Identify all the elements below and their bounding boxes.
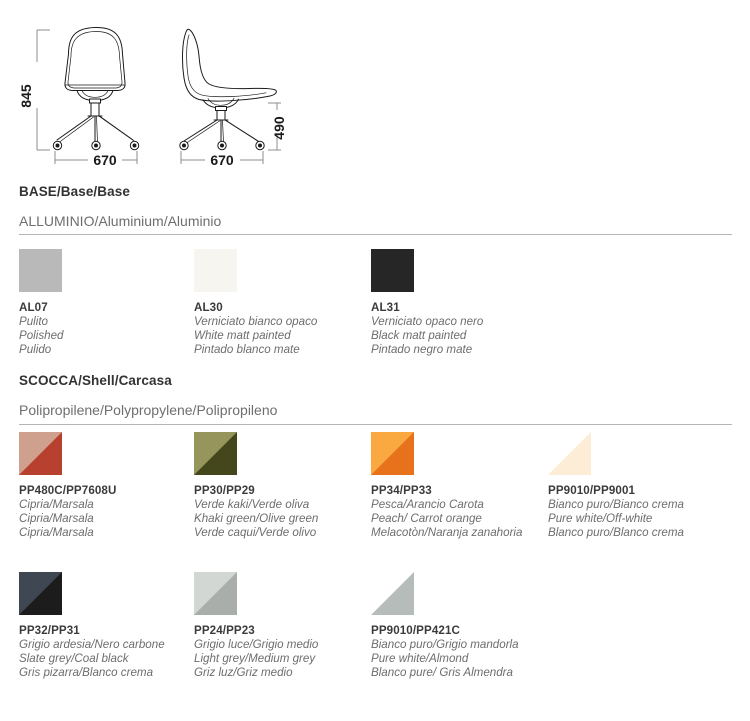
color-swatch-pp24-pp23 [194, 572, 237, 615]
swatch-description-it: Verniciato bianco opaco [194, 315, 374, 329]
swatch-description-es: Pintado negro mate [371, 343, 551, 357]
swatch-description-en: Khaki green/Olive green [194, 512, 374, 526]
swatch-description-it: Grigio luce/Grigio medio [194, 638, 374, 652]
color-swatch-pp30-pp29 [194, 432, 237, 475]
swatch-description: Bianco puro/Grigio mandorla Pure white/A… [371, 638, 551, 681]
section-shell-divider [19, 424, 732, 425]
swatch-description-en: Pure white/Almond [371, 652, 551, 666]
swatch-description-es: Pulido [19, 343, 199, 357]
color-swatch-pp9010-pp9001 [548, 432, 591, 475]
color-swatch-pp480c-pp7608u [19, 432, 62, 475]
swatch-fill-secondary [371, 249, 414, 292]
color-swatch-pp32-pp31 [19, 572, 62, 615]
swatch-item-pp32-pp31[interactable]: PP32/PP31 Grigio ardesia/Nero carbone Sl… [19, 572, 199, 681]
swatch-description-es: Blanco pure/ Gris Almendra [371, 666, 551, 680]
swatch-description-es: Melacotòn/Naranja zanahoria [371, 526, 551, 540]
dimension-label-seat-height: 490 [271, 116, 287, 140]
swatch-description-it: Verniciato opaco nero [371, 315, 551, 329]
swatch-code: PP32/PP31 [19, 624, 199, 638]
swatch-description-es: Verde caqui/Verde olivo [194, 526, 374, 540]
color-swatch-al30 [194, 249, 237, 292]
swatch-item-pp30-pp29[interactable]: PP30/PP29 Verde kaki/Verde oliva Khaki g… [194, 432, 374, 541]
swatch-description-en: Polished [19, 329, 199, 343]
swatch-description-es: Blanco puro/Blanco crema [548, 526, 748, 540]
swatch-item-pp24-pp23[interactable]: PP24/PP23 Grigio luce/Grigio medio Light… [194, 572, 374, 681]
section-base-subtitle: ALLUMINIO/Aluminium/Aluminio [19, 213, 221, 229]
swatch-description-en: Light grey/Medium grey [194, 652, 374, 666]
swatch-code: PP9010/PP421C [371, 624, 551, 638]
swatch-description-es: Pintado blanco mate [194, 343, 374, 357]
swatch-description-it: Bianco puro/Bianco crema [548, 498, 748, 512]
swatch-item-pp34-pp33[interactable]: PP34/PP33 Pesca/Arancio Carota Peach/ Ca… [371, 432, 551, 541]
swatch-code: AL07 [19, 301, 199, 315]
swatch-description-it: Verde kaki/Verde oliva [194, 498, 374, 512]
swatch-description: Verniciato opaco nero Black matt painted… [371, 315, 551, 358]
swatch-description: Grigio luce/Grigio medio Light grey/Medi… [194, 638, 374, 681]
swatch-description-it: Grigio ardesia/Nero carbone [19, 638, 199, 652]
color-swatch-al31 [371, 249, 414, 292]
dimension-label-width-right: 670 [210, 152, 234, 168]
swatch-description-it: Cipria/Marsala [19, 498, 199, 512]
swatch-description-en: White matt painted [194, 329, 374, 343]
color-swatch-pp9010-pp421c [371, 572, 414, 615]
swatch-description-it: Pesca/Arancio Carota [371, 498, 551, 512]
swatch-code: PP24/PP23 [194, 624, 374, 638]
dimension-label-width-left: 670 [93, 152, 117, 168]
dimension-label-height: 845 [18, 84, 34, 108]
swatch-description: Verde kaki/Verde oliva Khaki green/Olive… [194, 498, 374, 541]
swatch-item-pp480c-pp7608u[interactable]: PP480C/PP7608U Cipria/Marsala Cipria/Mar… [19, 432, 199, 541]
swatch-description-en: Pure white/Off-white [548, 512, 748, 526]
swatch-description-en: Slate grey/Coal black [19, 652, 199, 666]
color-swatch-al07 [19, 249, 62, 292]
swatch-description: Bianco puro/Bianco crema Pure white/Off-… [548, 498, 748, 541]
swatch-description-es: Griz luz/Griz medio [194, 666, 374, 680]
swatch-item-al31[interactable]: AL31 Verniciato opaco nero Black matt pa… [371, 249, 551, 358]
swatch-item-pp9010-pp421c[interactable]: PP9010/PP421C Bianco puro/Grigio mandorl… [371, 572, 551, 681]
swatch-code: AL31 [371, 301, 551, 315]
swatch-description: Pesca/Arancio Carota Peach/ Carrot orang… [371, 498, 551, 541]
swatch-description: Verniciato bianco opaco White matt paint… [194, 315, 374, 358]
swatch-description-en: Cipria/Marsala [19, 512, 199, 526]
swatch-item-al07[interactable]: AL07 Pulito Polished Pulido [19, 249, 199, 358]
swatch-description: Cipria/Marsala Cipria/Marsala Cipria/Mar… [19, 498, 199, 541]
section-shell-title: SCOCCA/Shell/Carcasa [19, 373, 172, 388]
swatch-code: PP30/PP29 [194, 484, 374, 498]
color-swatch-pp34-pp33 [371, 432, 414, 475]
swatch-fill-secondary [19, 249, 62, 292]
swatch-description: Pulito Polished Pulido [19, 315, 199, 358]
swatch-item-pp9010-pp9001[interactable]: PP9010/PP9001 Bianco puro/Bianco crema P… [548, 432, 748, 541]
section-base-title: BASE/Base/Base [19, 184, 130, 199]
swatch-description-en: Black matt painted [371, 329, 551, 343]
swatch-code: PP34/PP33 [371, 484, 551, 498]
swatch-description: Grigio ardesia/Nero carbone Slate grey/C… [19, 638, 199, 681]
section-base-divider [19, 234, 732, 235]
swatch-item-al30[interactable]: AL30 Verniciato bianco opaco White matt … [194, 249, 374, 358]
swatch-code: PP9010/PP9001 [548, 484, 748, 498]
swatch-code: AL30 [194, 301, 374, 315]
swatch-description-it: Pulito [19, 315, 199, 329]
chair-dimension-drawing: 845 670 670 490 [0, 0, 750, 180]
section-shell-subtitle: Polipropilene/Polypropylene/Polipropilen… [19, 402, 277, 418]
swatch-description-en: Peach/ Carrot orange [371, 512, 551, 526]
swatch-code: PP480C/PP7608U [19, 484, 199, 498]
swatch-description-es: Cipria/Marsala [19, 526, 199, 540]
swatch-fill-secondary [194, 249, 237, 292]
swatch-description-es: Gris pizarra/Blanco crema [19, 666, 199, 680]
swatch-description-it: Bianco puro/Grigio mandorla [371, 638, 551, 652]
